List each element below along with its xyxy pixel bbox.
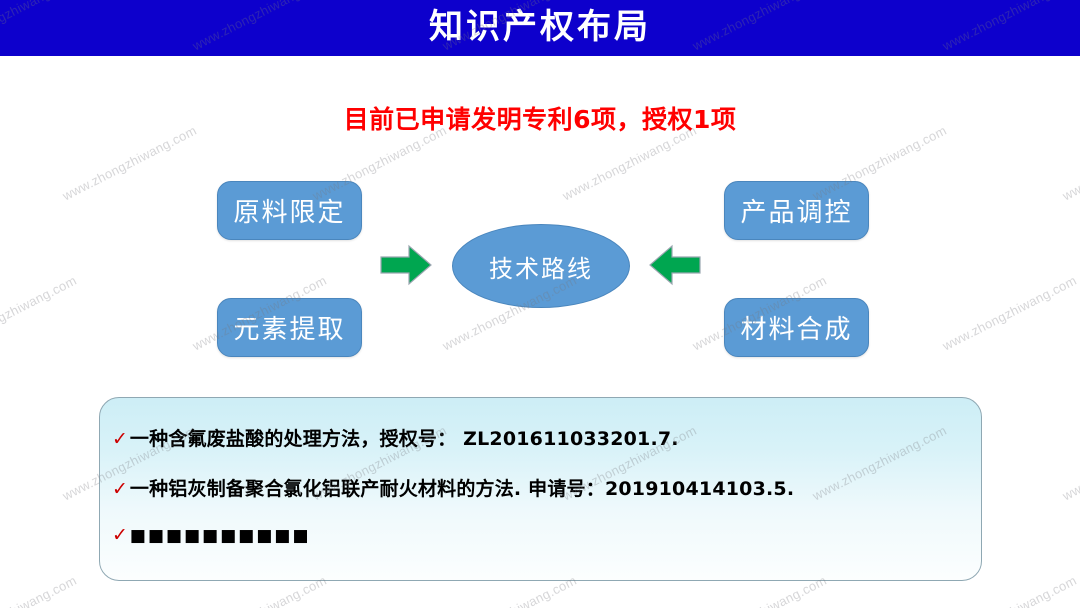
node-material-synthesis-label: 材料合成 xyxy=(740,309,852,346)
node-technology-route-label: 技术路线 xyxy=(489,249,593,284)
node-product-control-label: 产品调控 xyxy=(740,192,852,229)
node-element-extraction-label: 元素提取 xyxy=(233,309,345,346)
node-raw-material[interactable]: 原料限定 xyxy=(217,181,362,240)
node-material-synthesis[interactable]: 材料合成 xyxy=(724,298,869,357)
node-product-control[interactable]: 产品调控 xyxy=(724,181,869,240)
slide-canvas: 知识产权布局 目前已申请发明专利6项，授权1项 原料限定 元素提取 产品调控 材… xyxy=(0,0,1080,608)
node-element-extraction[interactable]: 元素提取 xyxy=(217,298,362,357)
node-technology-route[interactable]: 技术路线 xyxy=(452,224,630,308)
arrow-left-icon xyxy=(648,243,702,287)
node-raw-material-label: 原料限定 xyxy=(233,192,345,229)
technology-route-diagram: 原料限定 元素提取 产品调控 材料合成 技术路线 xyxy=(0,0,1080,608)
arrow-right-icon xyxy=(379,243,433,287)
